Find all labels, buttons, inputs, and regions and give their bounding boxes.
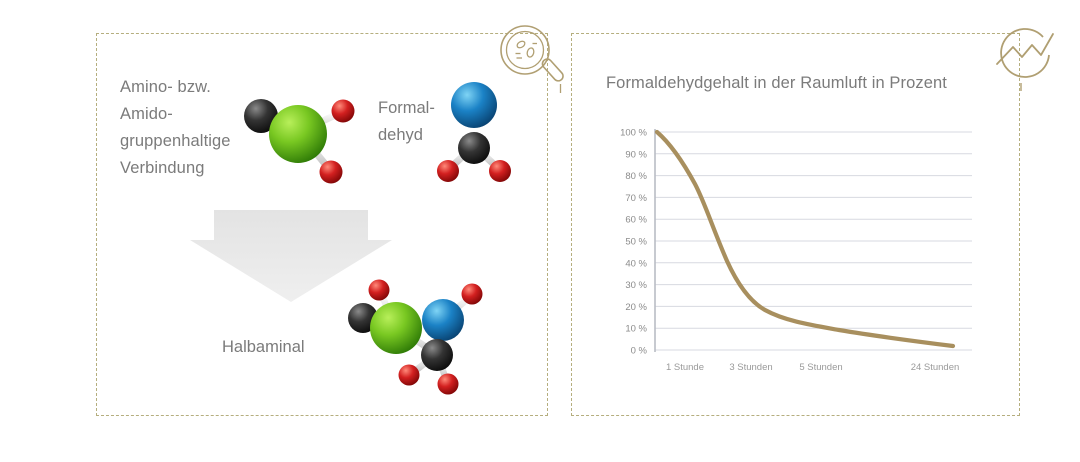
slide-canvas: Amino- bzw. Amido- gruppenhaltige Verbin… [0,0,1080,462]
formaldehyde-molecule [432,72,518,188]
x-tick-label: 24 Stunden [911,362,960,373]
x-tick-label: 3 Stunden [729,362,772,373]
chart-x-tick-labels: 1 Stunde 3 Stunden 5 Stunden 24 Stunden [666,362,959,373]
y-tick-label: 40 % [625,258,647,269]
y-tick-label: 90 % [625,149,647,160]
x-tick-label: 1 Stunde [666,362,704,373]
y-tick-label: 80 % [625,171,647,182]
y-tick-label: 30 % [625,280,647,291]
y-tick-label: 50 % [625,237,647,248]
chart-y-tick-labels: 100 % 90 % 80 % 70 % 60 % 50 % 40 % 30 %… [620,128,647,357]
product-label: Halbaminal [222,338,305,357]
hemiaminal-molecule [325,276,497,402]
y-tick-label: 20 % [625,302,647,313]
y-tick-label: 0 % [631,346,648,357]
y-tick-label: 100 % [620,128,647,139]
chart-gridlines [655,132,972,350]
chart-data-line [657,132,953,346]
y-tick-label: 10 % [625,324,647,335]
line-chart: 100 % 90 % 80 % 70 % 60 % 50 % 40 % 30 %… [571,33,1020,416]
y-tick-label: 60 % [625,215,647,226]
x-tick-label: 5 Stunden [799,362,842,373]
amino-group-molecule [232,84,362,194]
y-tick-label: 70 % [625,193,647,204]
